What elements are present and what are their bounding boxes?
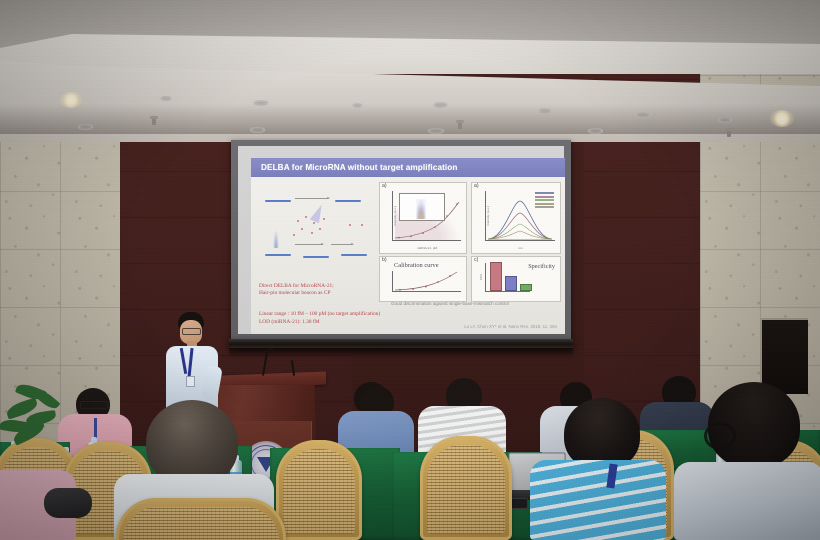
slide-text-linear-range: Linear range : 10 fM – 100 pM (no target… [259, 311, 380, 318]
schematic-peak-inset [263, 226, 287, 248]
slide-text-line2: Hair-pin molecular beacon as CP [259, 290, 330, 296]
banquet-chair[interactable] [420, 436, 512, 540]
calibration-curve-trace [393, 271, 459, 291]
chair-frame [420, 436, 512, 540]
plant-leaf [34, 387, 61, 412]
schematic-particle [311, 232, 313, 234]
recessed-light [253, 100, 269, 106]
sprinkler-head [458, 122, 462, 129]
specificity-ylabel: F/F0 [479, 274, 483, 280]
torso [674, 462, 820, 540]
bar-sm [505, 276, 517, 291]
audience-member-far-right-glasses [686, 382, 820, 540]
recessed-light [352, 103, 363, 108]
schematic-arrow [331, 244, 353, 245]
spectra-axes: Intensity (a.u.) miRNA-21, pM [392, 191, 461, 241]
slide-text-line1: Direct DELBA for MicroRNA-21; [259, 283, 334, 289]
glasses-icon [182, 328, 201, 335]
chair-frame [276, 440, 362, 540]
slide-panel-specificity: c) Specificity F/F0 [471, 256, 561, 302]
schematic-particle [297, 220, 299, 222]
panel-label-b: b) [382, 257, 387, 263]
recessed-light [635, 112, 651, 118]
potted-plant [0, 372, 86, 450]
panel-label-a: a) [382, 183, 387, 189]
schematic-electrode [335, 200, 361, 202]
slide-text-direct-delba: Direct DELBA for MicroRNA-21; Hair-pin m… [259, 283, 334, 298]
schematic-arrow [295, 244, 323, 245]
projection-screen: DELBA for MicroRNA without target amplif… [231, 140, 571, 358]
recessed-light [588, 128, 603, 134]
spectra2-ylabel: Intensity (a.u.) [486, 206, 490, 226]
screen-bottom-bar [229, 339, 573, 348]
specificity-caption: Specificity [528, 263, 555, 270]
schematic-particle [319, 228, 321, 230]
sprinkler-head [152, 118, 156, 125]
spectra2-xlabel: nm [486, 246, 555, 250]
torso [530, 460, 666, 540]
presentation-slide: DELBA for MicroRNA without target amplif… [251, 158, 565, 334]
ceiling-shadow [0, 104, 820, 134]
bar-t21 [490, 262, 502, 291]
calibration-curve-axes [392, 271, 461, 292]
recessed-light [428, 128, 444, 134]
schematic-electrode [265, 254, 291, 256]
recessed-light [433, 102, 448, 108]
schematic-particle [293, 234, 295, 236]
recessed-light [250, 127, 265, 133]
ceiling-downlight [770, 110, 794, 127]
slide-panel-spectra: a) [471, 182, 561, 254]
conference-room-photo: DELBA for MicroRNA without target amplif… [0, 0, 820, 540]
panel-label-a2: a) [474, 183, 479, 189]
schematic-particle [305, 216, 307, 218]
screen-drop-shadow [229, 348, 573, 358]
spectra2-axes: Intensity (a.u.) nm [485, 191, 555, 241]
banquet-chair-foreground[interactable] [116, 498, 286, 540]
schematic-laser-beam [310, 203, 326, 224]
schematic-particle [301, 228, 303, 230]
slide-text-discrimination: Good discrimination against single-base-… [391, 301, 509, 306]
recessed-light [718, 117, 732, 123]
schematic-particle [313, 222, 315, 224]
schematic-electrode [303, 256, 329, 258]
banquet-chair[interactable] [276, 440, 362, 540]
slide-panel-calibration-curve: b) Calibration curve [379, 256, 467, 302]
slide-citation: Lu LY, Chen XY* et al. Nano Res. 2018, 1… [464, 324, 557, 329]
bar-nc [520, 284, 532, 291]
screen-frame: DELBA for MicroRNA without target amplif… [231, 140, 571, 340]
glasses-icon [704, 422, 736, 450]
recessed-light [538, 108, 552, 114]
recessed-light [78, 124, 93, 130]
panel-label-c: c) [474, 257, 478, 263]
slide-panel-schematic [257, 182, 375, 278]
presenter-badge [186, 376, 195, 387]
calibration-curve-caption: Calibration curve [394, 262, 439, 269]
recessed-light [160, 96, 172, 101]
slide-panel-spectra-inset: a) [379, 182, 467, 254]
screen-surface: DELBA for MicroRNA without target amplif… [238, 146, 564, 334]
slide-title: DELBA for MicroRNA without target amplif… [251, 158, 565, 177]
spectra-legend [535, 192, 554, 208]
schematic-particle [349, 224, 351, 226]
audience-member-striped-polo [540, 398, 660, 540]
chair-frame [116, 498, 286, 540]
slide-text-lod: LOD (miRNA-21): 1.38 fM [259, 319, 320, 326]
schematic-arrow [295, 198, 329, 199]
ceiling-downlight [60, 92, 82, 108]
schematic-particle [323, 218, 325, 220]
spectra-xlabel: miRNA-21, pM [393, 246, 461, 250]
schematic-electrode [265, 200, 291, 202]
bag-object [44, 488, 92, 518]
schematic-particle [361, 224, 363, 226]
specificity-axes: F/F0 [485, 263, 530, 292]
spectra-inset-box [399, 193, 445, 221]
sprinkler-head [727, 130, 731, 137]
spectra-ylabel: Intensity (a.u.) [393, 206, 397, 226]
microphone-head [268, 348, 274, 352]
schematic-electrode [341, 254, 367, 256]
